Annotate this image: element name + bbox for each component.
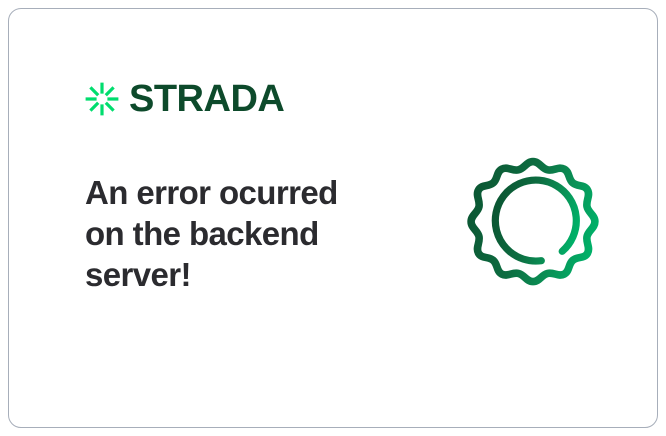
brand-lockup: STRADA — [85, 75, 284, 123]
error-page: STRADA An error ocurred on the backend s… — [0, 0, 666, 436]
error-message: An error ocurred on the backend server! — [85, 172, 385, 295]
error-card: STRADA An error ocurred on the backend s… — [8, 8, 658, 428]
gear-icon — [452, 148, 614, 310]
brand-wordmark: STRADA — [129, 80, 284, 118]
strada-asterisk-logo-mark — [85, 82, 119, 116]
